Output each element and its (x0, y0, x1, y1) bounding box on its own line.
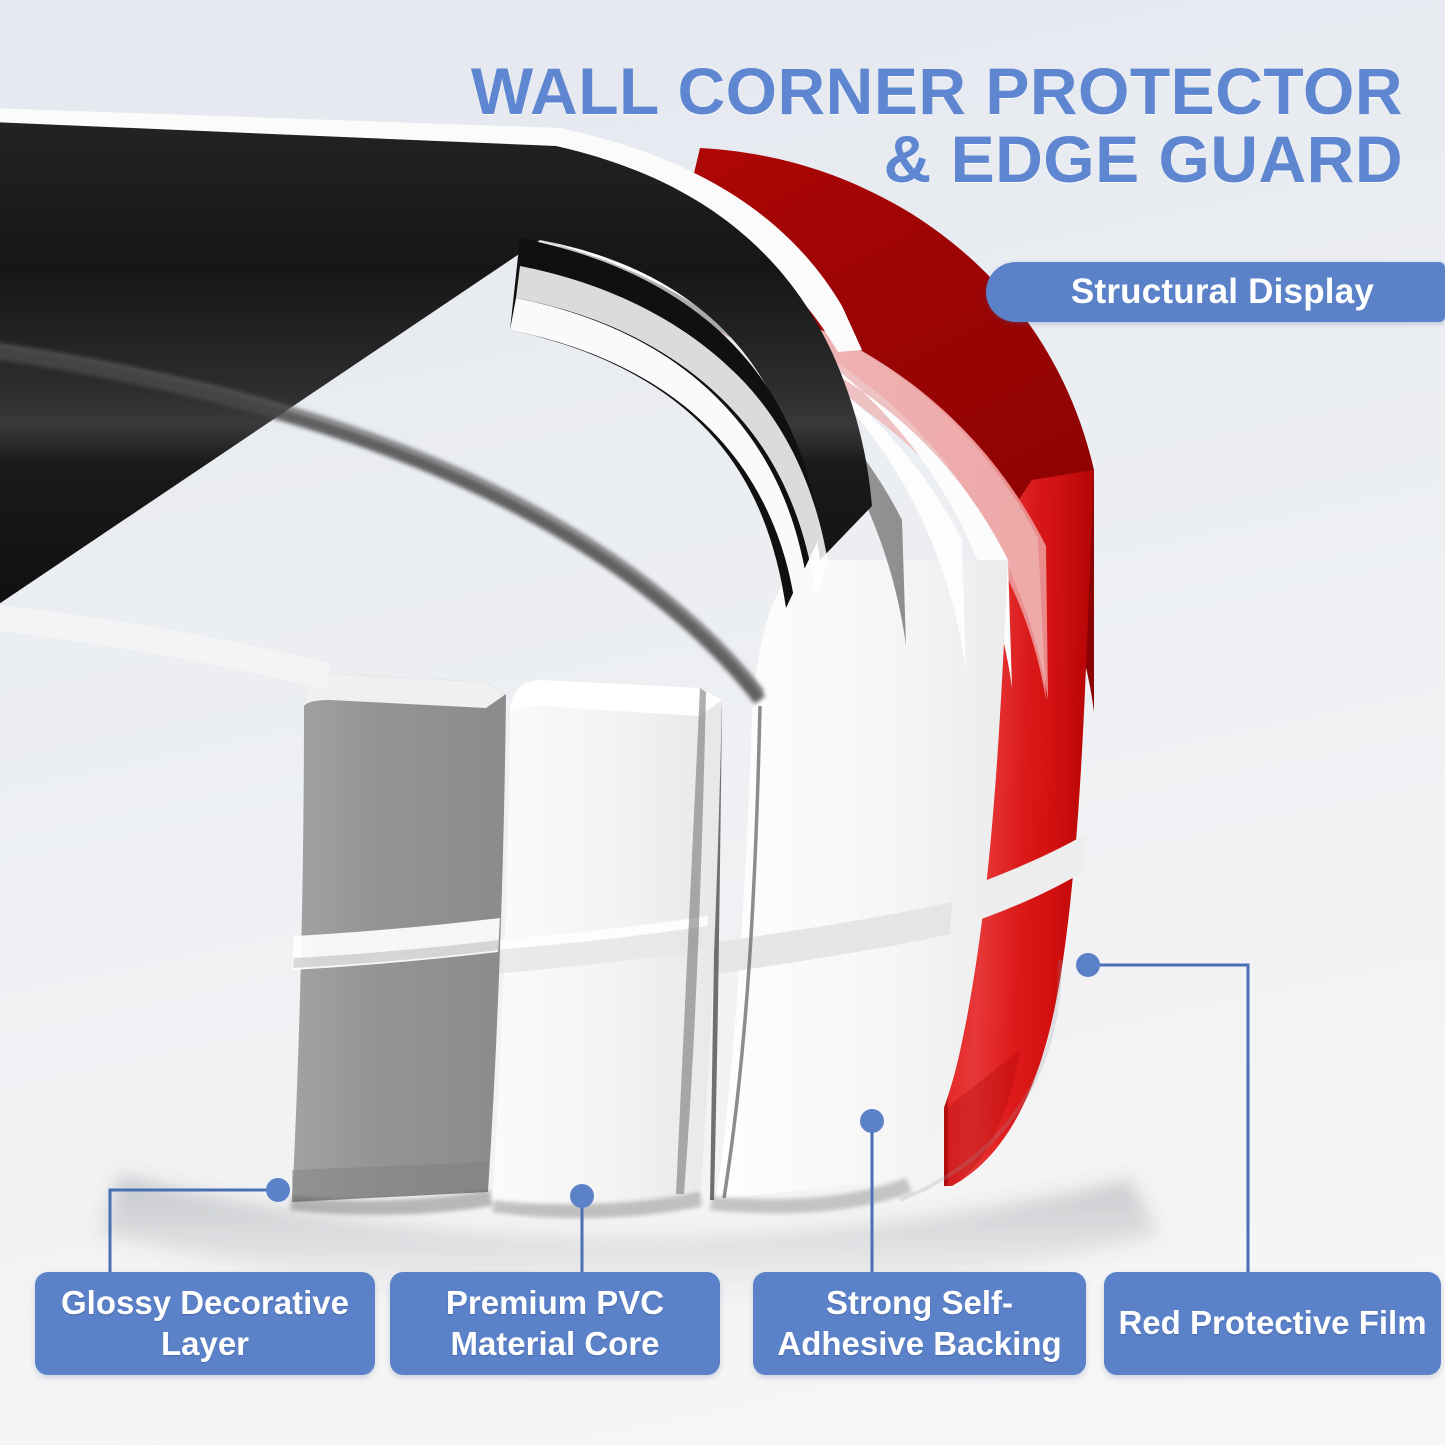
leader-premium-pvc-material-core (570, 1184, 594, 1272)
structural-display-badge: Structural Display (986, 262, 1445, 322)
leader-strong-self-adhesive-backing (860, 1109, 884, 1272)
callout-label-premium-pvc-material-core: Premium PVC Material Core (390, 1272, 720, 1375)
callout-label-glossy-decorative-layer: Glossy Decorative Layer (35, 1272, 375, 1375)
callout-leader-lines (0, 0, 1445, 1445)
product-infographic: WALL CORNER PROTECTOR & EDGE GUARD Struc… (0, 0, 1445, 1445)
leader-red-protective-film (1076, 953, 1248, 1272)
leader-glossy-decorative-layer (110, 1178, 290, 1272)
callout-label-strong-self-adhesive-backing: Strong Self-Adhesive Backing (753, 1272, 1086, 1375)
callout-label-red-protective-film: Red Protective Film (1104, 1272, 1441, 1375)
